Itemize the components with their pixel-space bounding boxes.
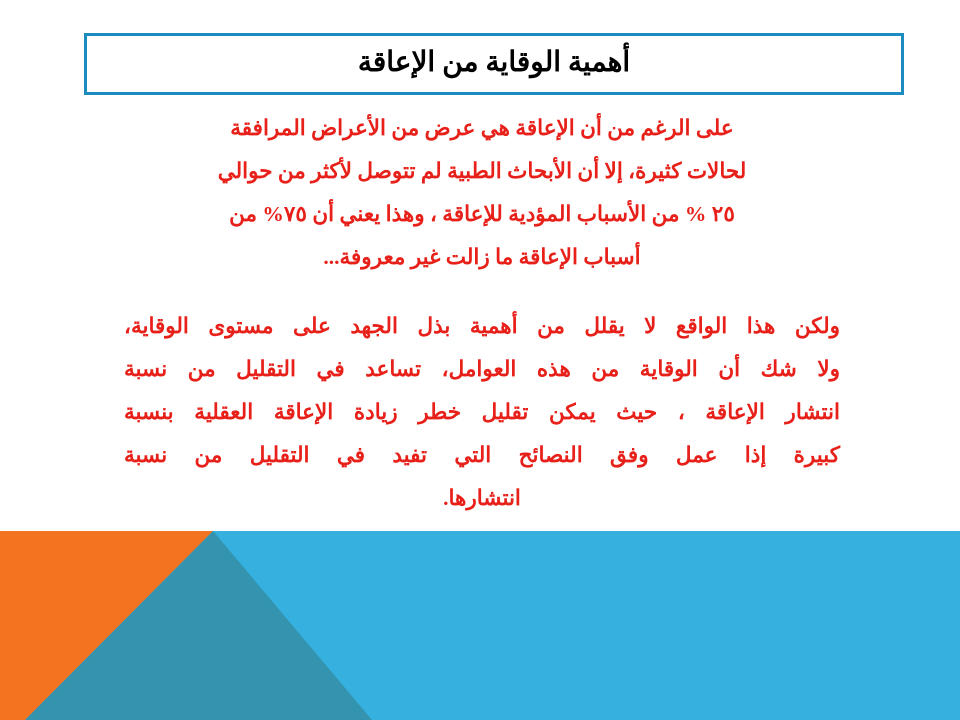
paragraph-line: أسباب الإعاقة ما زالت غير معروفة...	[120, 236, 844, 279]
decorative-graphic	[0, 531, 960, 720]
slide-title-box: أهمية الوقاية من الإعاقة	[84, 33, 904, 95]
paragraph-line: انتشارها.	[124, 477, 840, 520]
decorative-shapes	[0, 531, 960, 720]
paragraph-line: على الرغم من أن الإعاقة هي عرض من الأعرا…	[120, 107, 844, 150]
paragraph-line: ولكن هذا الواقع لا يقلل من أهمية بذل الج…	[124, 305, 840, 348]
slide-canvas: أهمية الوقاية من الإعاقة على الرغم من أن…	[0, 0, 960, 720]
paragraph-line: انتشار الإعاقة ، حيث يمكن تقليل خطر زياد…	[124, 391, 840, 434]
paragraph-line: كبيرة إذا عمل وفق النصائح التي تفيد في ا…	[124, 434, 840, 477]
slide-body: على الرغم من أن الإعاقة هي عرض من الأعرا…	[120, 107, 844, 520]
paragraph-line: ٢٥ % من الأسباب المؤدية للإعاقة ، وهذا ي…	[120, 193, 844, 236]
body-paragraph-2: ولكن هذا الواقع لا يقلل من أهمية بذل الج…	[120, 305, 844, 520]
page-title: أهمية الوقاية من الإعاقة	[358, 48, 630, 81]
body-paragraph-1: على الرغم من أن الإعاقة هي عرض من الأعرا…	[120, 107, 844, 279]
paragraph-line: لحالات كثيرة، إلا أن الأبحاث الطبية لم ت…	[120, 150, 844, 193]
paragraph-line: ولا شك أن الوقاية من هذه العوامل، تساعد …	[124, 348, 840, 391]
